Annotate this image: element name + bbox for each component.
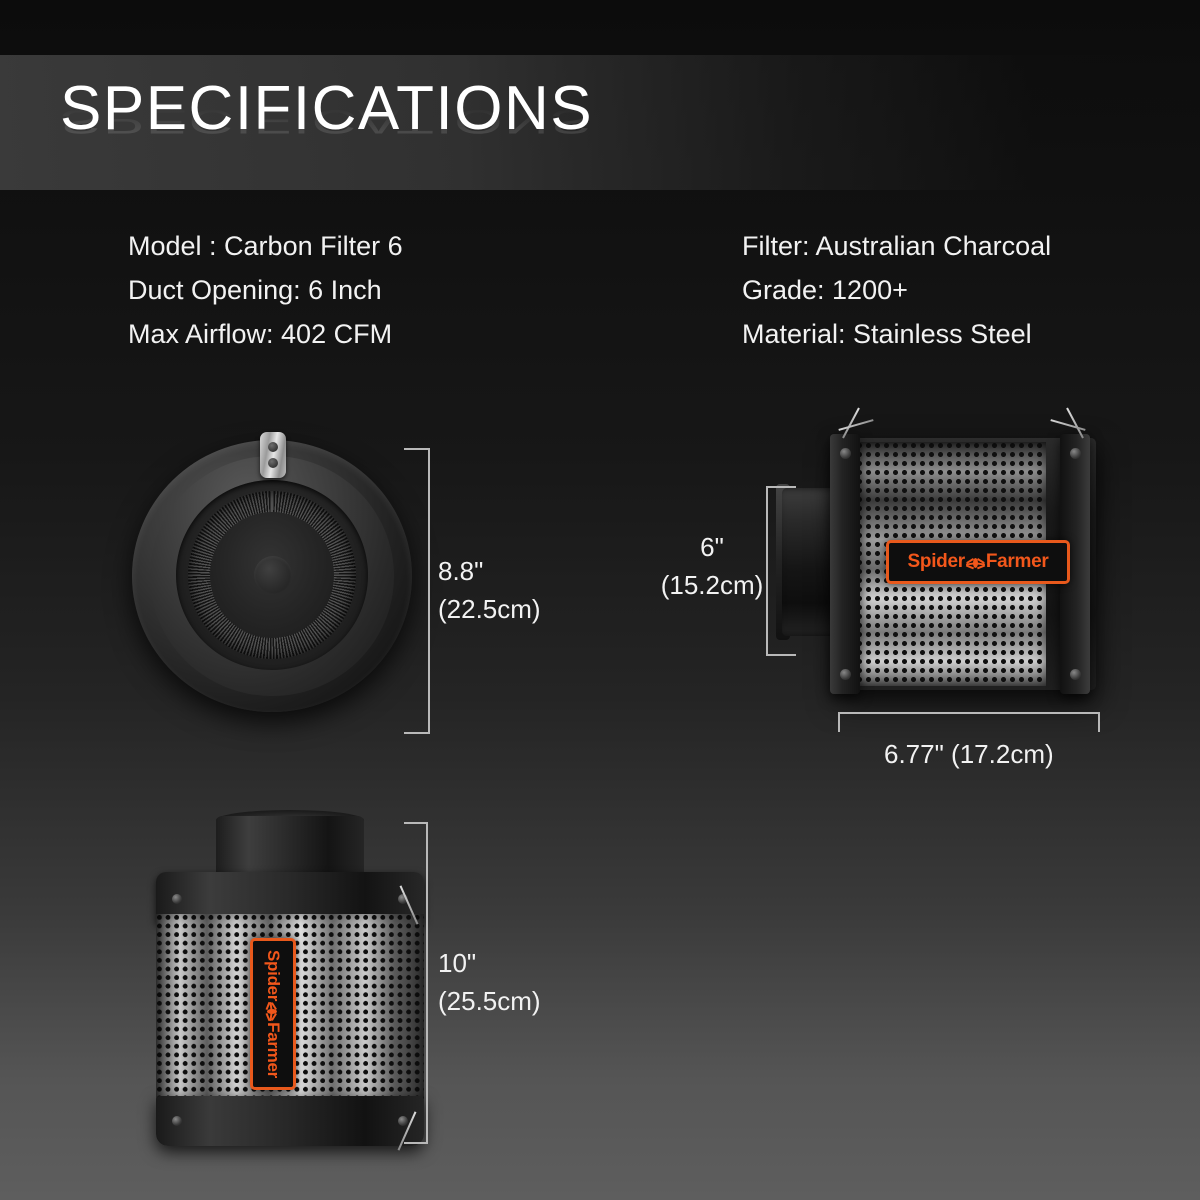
spec-duct-opening: Duct Opening: 6 Inch — [128, 268, 403, 312]
dimension-bracket-depth — [838, 712, 1100, 734]
bottom-cap-bolt-left — [172, 1116, 182, 1126]
bracket-tick-top — [404, 822, 428, 824]
bracket-tick-top — [404, 448, 430, 450]
dimension-combined: 6.77" (17.2cm) — [884, 739, 1054, 769]
spider-leg — [977, 564, 985, 568]
clamp-bracket-icon — [260, 432, 286, 478]
dimension-metric: (25.5cm) — [438, 982, 541, 1020]
top-cap-bolt-left — [172, 894, 182, 904]
page-title-wrapper: SPECIFICATIONS SPECIFICATIONS — [60, 78, 820, 198]
bracket-tick-left — [838, 712, 840, 732]
spec-column-right: Filter: Australian Charcoal Grade: 1200+… — [742, 224, 1051, 356]
dimension-bracket-height — [396, 822, 428, 1144]
dimension-metric: (22.5cm) — [438, 590, 541, 628]
bottom-end-cap — [156, 1096, 424, 1146]
dimension-bracket-diameter — [398, 448, 430, 734]
bracket-stem — [428, 448, 430, 734]
end-cap-bolt-bottom — [1070, 669, 1081, 680]
dimension-imperial: 10" — [438, 948, 476, 978]
dimension-label-diameter: 8.8" (22.5cm) — [438, 552, 541, 628]
specifications-page: SPECIFICATIONS SPECIFICATIONS Model : Ca… — [0, 0, 1200, 1200]
dimension-label-depth: 6.77" (17.2cm) — [884, 735, 1054, 773]
clamp-screw-top — [268, 442, 278, 452]
brand-logo-text: Spider Farmer — [263, 950, 283, 1078]
brand-word-two: Farmer — [263, 1022, 283, 1078]
bracket-tick-right — [1098, 712, 1100, 732]
product-front-view — [132, 432, 412, 720]
end-cap-bolt-top — [1070, 448, 1081, 459]
dimension-label-height: 10" (25.5cm) — [438, 944, 541, 1020]
spider-icon — [967, 554, 984, 571]
hanging-hook-left-arm — [838, 419, 873, 431]
dimension-label-collar: 6" (15.2cm) — [652, 528, 772, 604]
spec-model: Model : Carbon Filter 6 — [128, 224, 403, 268]
end-cap-left — [830, 434, 860, 694]
end-cap-bolt-bottom — [840, 669, 851, 680]
spider-icon — [265, 1003, 282, 1020]
bracket-tick-top — [766, 486, 796, 488]
bracket-stem — [426, 822, 428, 1144]
dimension-imperial: 6" — [700, 532, 724, 562]
brand-word-two: Farmer — [986, 551, 1049, 573]
hanging-hook-right-arm — [1050, 419, 1085, 431]
brand-logo-horizontal: Spider Farmer — [886, 540, 1070, 584]
spec-material: Material: Stainless Steel — [742, 312, 1051, 356]
bracket-tick-bottom — [404, 732, 430, 734]
brand-logo-vertical: Spider Farmer — [250, 938, 296, 1090]
spec-max-airflow: Max Airflow: 402 CFM — [128, 312, 403, 356]
brand-logo-text: Spider Farmer — [908, 551, 1049, 573]
brand-word-one: Spider — [263, 950, 283, 1001]
spider-leg — [272, 1013, 278, 1021]
dimension-imperial: 8.8" — [438, 556, 483, 586]
spec-grade: Grade: 1200+ — [742, 268, 1051, 312]
filter-center-hub — [254, 556, 292, 594]
dimension-metric: (15.2cm) — [652, 566, 772, 604]
bracket-tick-bottom — [766, 654, 796, 656]
page-title: SPECIFICATIONS — [60, 78, 820, 140]
clamp-screw-bottom — [268, 458, 278, 468]
bracket-tick-bottom — [404, 1142, 428, 1144]
spec-column-left: Model : Carbon Filter 6 Duct Opening: 6 … — [128, 224, 403, 356]
product-side-view: Spider Farmer — [782, 400, 1102, 710]
spec-filter: Filter: Australian Charcoal — [742, 224, 1051, 268]
brand-word-one: Spider — [908, 551, 965, 573]
product-upright-view: Spider Farmer — [138, 810, 438, 1160]
end-cap-bolt-top — [840, 448, 851, 459]
bracket-stem — [838, 712, 1100, 714]
